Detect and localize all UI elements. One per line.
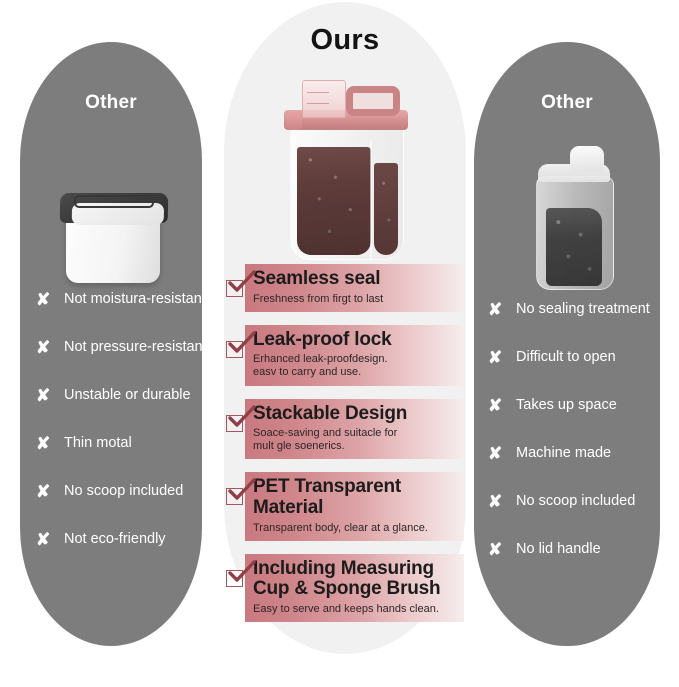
- feature-card: Seamless seal Freshness from firgt to la…: [245, 264, 464, 312]
- feature-card: PET Transparent Material Transparent bod…: [245, 472, 464, 540]
- con-label: Not moistura-resistant: [64, 291, 206, 307]
- x-icon: ✘: [488, 493, 507, 510]
- con-label: Not eco-friendly: [64, 531, 166, 547]
- feature-subtext-line: Soace-saving and suitacle for: [253, 427, 458, 440]
- feature-subtext-line: Erhanced leak-proofdesign.: [253, 353, 458, 366]
- panel-right-heading: Other: [474, 92, 660, 114]
- measuring-cup: [302, 80, 346, 118]
- con-label: Takes up space: [516, 397, 617, 413]
- canister-spout-lid: [570, 146, 604, 172]
- list-item: ✘ Difficult to open: [474, 333, 660, 381]
- con-list-left: ✘ Not moistura-resistant ✘ Not pressure-…: [20, 275, 202, 563]
- con-list-right: ✘ No sealing treatment ✘ Difficult to op…: [474, 285, 660, 573]
- box-handle: [74, 195, 154, 208]
- feature-title: Including Measuring Cup & Sponge Brush: [253, 559, 458, 600]
- list-item: ✘ No lid handle: [474, 525, 660, 573]
- con-label: Machine made: [516, 445, 611, 461]
- feature-subtext-line: mult gle soenerics.: [253, 440, 458, 453]
- checkbox-checked-icon: [226, 415, 243, 432]
- list-item: ✘ No scoop included: [20, 467, 202, 515]
- panel-other-left: Other ✘ Not moistura-resistant ✘ Not pre…: [20, 42, 202, 646]
- panel-ours: Ours Seamless seal Freshne: [224, 2, 466, 654]
- con-label: Difficult to open: [516, 349, 616, 365]
- list-item: ✘ No sealing treatment: [474, 285, 660, 333]
- product-image-other-left: [56, 175, 174, 287]
- feature-subtext: Erhanced leak-proofdesign. easv to carry…: [253, 353, 458, 379]
- panel-left-heading: Other: [20, 92, 202, 114]
- inner-divider: [370, 141, 372, 259]
- feature-subtext-line: easv to carry and use.: [253, 366, 458, 379]
- feature-row: Stackable Design Soace-saving and suitac…: [226, 399, 464, 460]
- x-icon: ✘: [36, 291, 55, 308]
- list-item: ✘ No scoop included: [474, 477, 660, 525]
- product-image-ours: [282, 80, 410, 260]
- grain-fill-main: [297, 147, 371, 255]
- con-label: Thin motal: [64, 435, 132, 451]
- lid-clip: [286, 114, 302, 130]
- dispenser-body: [290, 124, 404, 260]
- checkbox-checked-icon: [226, 570, 243, 587]
- x-icon: ✘: [488, 397, 507, 414]
- feature-title: PET Transparent Material: [253, 477, 458, 518]
- con-label: No lid handle: [516, 541, 601, 557]
- checkbox-checked-icon: [226, 341, 243, 358]
- con-label: No scoop included: [64, 483, 183, 499]
- x-icon: ✘: [488, 445, 507, 462]
- checkbox-checked-icon: [226, 280, 243, 297]
- feature-subtext: Transparent body, clear at a glance.: [253, 522, 458, 535]
- x-icon: ✘: [36, 435, 55, 452]
- con-label: Unstable or durable: [64, 387, 191, 403]
- x-icon: ✘: [488, 541, 507, 558]
- feature-subtext-line: Freshness from firgt to last: [253, 293, 458, 306]
- feature-row: Leak-proof lock Erhanced leak-proofdesig…: [226, 325, 464, 386]
- feature-title: Stackable Design: [253, 404, 458, 425]
- feature-row: Including Measuring Cup & Sponge Brush E…: [226, 554, 464, 622]
- list-item: ✘ Takes up space: [474, 381, 660, 429]
- comparison-infographic: Other ✘ Not moistura-resistant ✘ Not pre…: [0, 0, 679, 687]
- list-item: ✘ Unstable or durable: [20, 371, 202, 419]
- feature-row: Seamless seal Freshness from firgt to la…: [226, 264, 464, 312]
- carry-handle: [346, 86, 400, 116]
- list-item: ✘ Not eco-friendly: [20, 515, 202, 563]
- pro-feature-list: Seamless seal Freshness from firgt to la…: [226, 264, 464, 635]
- feature-row: PET Transparent Material Transparent bod…: [226, 472, 464, 540]
- con-label: No scoop included: [516, 493, 635, 509]
- feature-title: Leak-proof lock: [253, 330, 458, 351]
- feature-subtext: Freshness from firgt to last: [253, 293, 458, 306]
- list-item: ✘ Thin motal: [20, 419, 202, 467]
- feature-subtext: Soace-saving and suitacle for mult gle s…: [253, 427, 458, 453]
- x-icon: ✘: [488, 301, 507, 318]
- feature-card: Stackable Design Soace-saving and suitac…: [245, 399, 464, 460]
- x-icon: ✘: [36, 483, 55, 500]
- feature-card: Including Measuring Cup & Sponge Brush E…: [245, 554, 464, 622]
- feature-title: Seamless seal: [253, 269, 458, 290]
- feature-subtext-line: Easy to serve and keeps hands clean.: [253, 603, 458, 616]
- product-image-other-right: [526, 138, 622, 290]
- feature-subtext: Easy to serve and keeps hands clean.: [253, 603, 458, 616]
- canister-body: [536, 176, 614, 290]
- x-icon: ✘: [488, 349, 507, 366]
- list-item: ✘ Machine made: [474, 429, 660, 477]
- list-item: ✘ Not pressure-resistant: [20, 323, 202, 371]
- panel-ours-heading: Ours: [224, 24, 466, 57]
- feature-subtext-line: Transparent body, clear at a glance.: [253, 522, 458, 535]
- x-icon: ✘: [36, 339, 55, 356]
- list-item: ✘ Not moistura-resistant: [20, 275, 202, 323]
- con-label: No sealing treatment: [516, 301, 650, 317]
- x-icon: ✘: [36, 387, 55, 404]
- panel-other-right: Other ✘ No sealing treatment ✘ Difficult…: [474, 42, 660, 646]
- feature-card: Leak-proof lock Erhanced leak-proofdesig…: [245, 325, 464, 386]
- x-icon: ✘: [36, 531, 55, 548]
- con-label: Not pressure-resistant: [64, 339, 207, 355]
- grain-fill: [546, 208, 602, 286]
- grain-fill-side: [374, 163, 398, 255]
- checkbox-checked-icon: [226, 488, 243, 505]
